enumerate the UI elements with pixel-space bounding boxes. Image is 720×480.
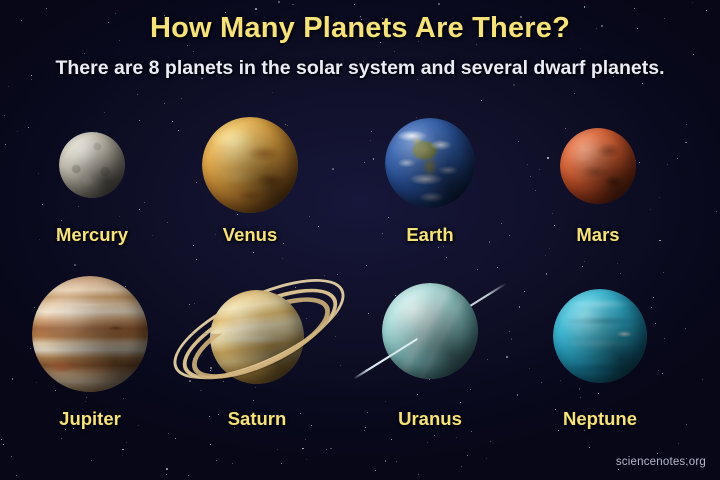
star: [560, 380, 561, 381]
star: [16, 475, 17, 476]
star: [497, 267, 498, 268]
star: [237, 214, 238, 215]
star: [61, 220, 62, 221]
earth-limb: [385, 118, 475, 208]
star: [481, 100, 482, 101]
star: [375, 470, 376, 471]
star: [216, 460, 217, 461]
star: [78, 206, 79, 207]
star: [139, 209, 140, 210]
star: [181, 98, 182, 99]
venus-limb: [202, 117, 298, 213]
star: [524, 291, 525, 292]
star: [535, 190, 536, 191]
star: [3, 444, 4, 445]
star: [86, 397, 87, 398]
star: [30, 348, 31, 349]
star: [446, 257, 447, 258]
star: [292, 4, 294, 6]
star: [477, 269, 478, 270]
star: [642, 83, 643, 84]
star: [370, 140, 371, 141]
star: [461, 466, 463, 468]
star: [677, 158, 678, 159]
star: [123, 398, 124, 399]
star: [8, 86, 9, 87]
star: [582, 266, 583, 267]
star: [580, 48, 581, 49]
star: [255, 8, 257, 10]
star: [232, 463, 233, 464]
star: [659, 197, 660, 198]
star: [364, 162, 365, 163]
star: [467, 455, 468, 456]
star: [460, 402, 461, 403]
star: [618, 469, 619, 470]
star: [685, 328, 686, 329]
star: [686, 124, 687, 125]
star: [486, 458, 487, 459]
star: [91, 460, 92, 461]
star: [366, 265, 367, 266]
star: [456, 437, 457, 438]
star: [125, 286, 126, 287]
star: [443, 246, 444, 247]
star: [650, 209, 651, 210]
star: [137, 94, 138, 95]
star: [692, 2, 693, 3]
star: [28, 127, 29, 128]
star: [187, 45, 188, 46]
star: [104, 112, 105, 113]
star: [547, 157, 549, 159]
star: [598, 393, 599, 394]
star: [188, 475, 189, 476]
site-watermark: sciencenotes.org: [616, 456, 706, 468]
star: [11, 456, 12, 457]
star: [511, 338, 513, 340]
star: [38, 173, 39, 174]
star: [5, 144, 6, 145]
star: [634, 8, 635, 9]
star: [166, 474, 167, 475]
page-subtitle: There are 8 planets in the solar system …: [0, 57, 720, 80]
star: [272, 92, 273, 93]
planets-infographic: How Many Planets Are There? There are 8 …: [0, 0, 720, 480]
star: [565, 128, 566, 129]
star: [653, 297, 654, 298]
star: [539, 169, 540, 170]
star: [126, 442, 127, 443]
star: [210, 444, 211, 445]
star: [122, 455, 123, 456]
star: [589, 447, 590, 448]
star: [55, 390, 56, 391]
star: [584, 430, 585, 431]
star: [326, 449, 327, 450]
star: [434, 435, 435, 436]
star: [396, 461, 397, 462]
star: [172, 121, 173, 122]
star: [332, 168, 334, 170]
star: [438, 247, 439, 248]
star: [394, 51, 395, 52]
star: [178, 130, 179, 131]
star: [579, 388, 581, 390]
star: [285, 124, 286, 125]
mars-sphere: [560, 128, 636, 204]
star: [166, 468, 168, 470]
star: [278, 1, 280, 3]
star: [427, 442, 428, 443]
star: [388, 217, 389, 218]
star: [541, 382, 542, 383]
star: [354, 4, 355, 5]
star: [371, 131, 372, 132]
star: [530, 176, 531, 177]
star: [302, 448, 304, 450]
venus-sphere: [202, 117, 298, 213]
star: [470, 389, 471, 390]
star: [580, 397, 581, 398]
star: [42, 204, 43, 205]
star: [584, 261, 585, 262]
star: [651, 307, 652, 308]
star: [164, 103, 165, 104]
star: [702, 379, 703, 380]
star: [84, 53, 85, 54]
star: [471, 431, 472, 432]
star: [119, 216, 120, 217]
star: [518, 141, 519, 142]
earth-sphere: [385, 118, 475, 208]
star: [144, 202, 145, 203]
planet-label-neptune: Neptune: [490, 408, 710, 430]
star: [364, 430, 365, 431]
star: [306, 459, 307, 460]
star: [85, 401, 86, 402]
star: [175, 438, 176, 439]
star: [122, 449, 124, 451]
star: [490, 441, 491, 442]
star: [513, 84, 515, 86]
star: [527, 164, 528, 165]
star: [693, 54, 694, 55]
star: [662, 373, 663, 374]
star: [330, 448, 332, 450]
mercury-limb: [59, 132, 125, 198]
star: [620, 273, 621, 274]
star: [664, 338, 665, 339]
star: [549, 248, 550, 249]
star: [517, 394, 519, 396]
star: [36, 382, 37, 383]
star: [716, 211, 717, 212]
star: [509, 331, 510, 332]
star: [385, 460, 387, 462]
star: [546, 273, 548, 275]
star: [552, 213, 553, 214]
star: [287, 125, 288, 126]
star: [277, 449, 278, 450]
star: [639, 162, 640, 163]
star: [391, 439, 392, 440]
planet-label-mars: Mars: [488, 224, 708, 246]
neptune-limb: [553, 289, 647, 383]
star: [139, 120, 140, 121]
star: [46, 8, 47, 9]
star: [253, 252, 254, 253]
page-title: How Many Planets Are There?: [0, 12, 720, 45]
star: [655, 323, 656, 324]
star: [706, 10, 707, 11]
mars-limb: [560, 128, 636, 204]
star: [663, 272, 664, 273]
star: [34, 307, 35, 308]
neptune-sphere: [553, 289, 647, 383]
star: [416, 117, 417, 118]
star: [574, 93, 575, 94]
star: [519, 306, 521, 308]
star: [305, 439, 306, 440]
star: [1, 439, 2, 440]
mercury-sphere: [59, 132, 125, 198]
star: [309, 216, 310, 217]
star: [167, 222, 168, 223]
star: [168, 433, 169, 434]
star: [657, 453, 658, 454]
jupiter-sphere: [32, 276, 148, 392]
star: [685, 142, 687, 144]
star: [12, 378, 14, 380]
star: [196, 182, 197, 183]
star: [506, 356, 508, 358]
star: [61, 438, 62, 439]
star: [545, 255, 546, 256]
star: [4, 115, 5, 116]
star: [584, 6, 586, 8]
star: [529, 368, 530, 369]
star: [617, 263, 618, 264]
star: [418, 474, 419, 475]
star: [487, 359, 488, 360]
star: [658, 370, 659, 371]
star: [17, 131, 18, 132]
jupiter-limb: [32, 276, 148, 392]
star: [373, 158, 375, 160]
star: [667, 164, 668, 165]
star: [438, 3, 440, 5]
star: [678, 443, 679, 444]
star: [193, 51, 194, 52]
star: [281, 463, 282, 464]
star: [74, 264, 76, 266]
